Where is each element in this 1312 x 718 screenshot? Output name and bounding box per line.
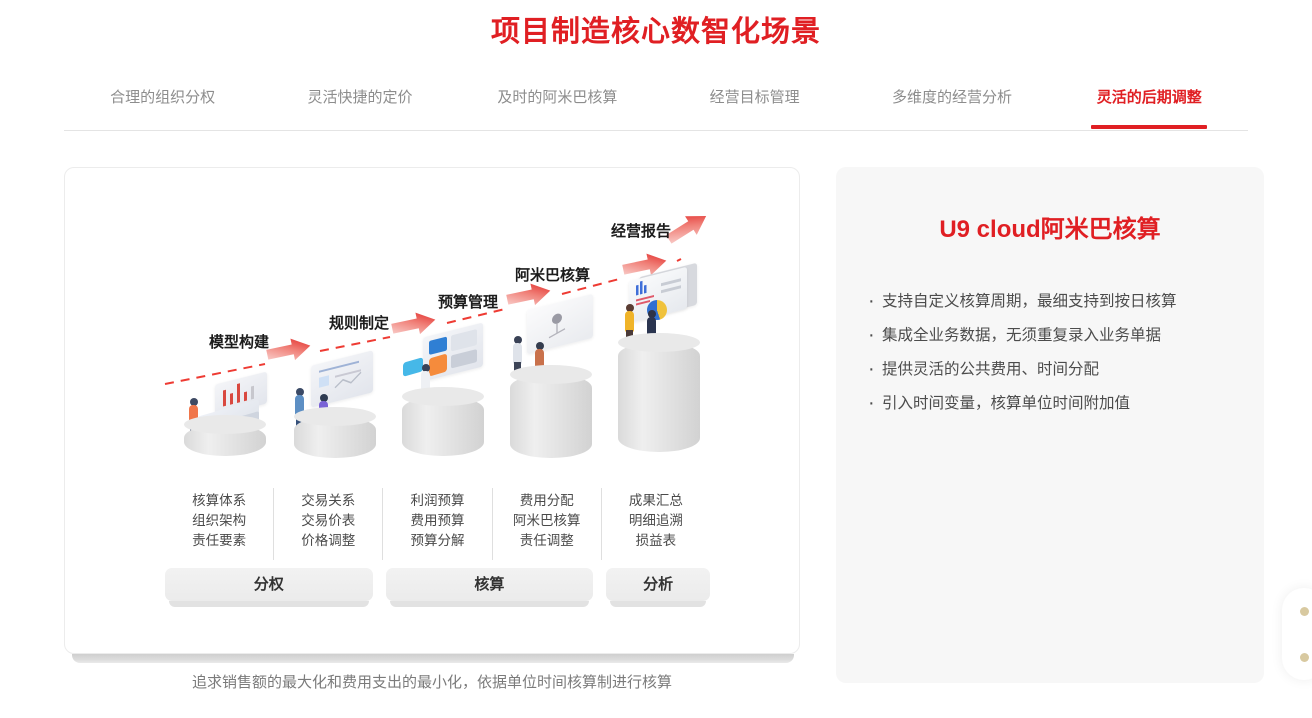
- pedestal-4: [510, 374, 592, 458]
- tab-flexible-pricing[interactable]: 灵活快捷的定价: [261, 76, 458, 129]
- pedestal-2: [294, 416, 376, 458]
- capability-columns: 核算体系 组织架构 责任要素 交易关系 交易价表 价格调整 利润预算 费用预算 …: [165, 488, 710, 638]
- diagram-caption: 追求销售额的最大化和费用支出的最小化，依据单位时间核算制进行核算: [64, 672, 800, 694]
- stage-label-budget-mgmt: 预算管理: [438, 291, 498, 312]
- column-2-text: 交易关系 交易价表 价格调整: [273, 488, 382, 560]
- contact-widget-icon: [1300, 607, 1309, 616]
- group-button-fenquan[interactable]: 分权: [165, 568, 373, 601]
- info-panel-bullets: 支持自定义核算周期，最细支持到按日核算 集成全业务数据，无须重复录入业务单据 提…: [866, 285, 1234, 421]
- diagram-card-shelf: [72, 654, 794, 663]
- pedestal-3: [402, 396, 484, 456]
- stage-label-amoeba-acct: 阿米巴核算: [515, 264, 590, 285]
- stage-label-business-report: 经营报告: [611, 220, 671, 241]
- bullet-item-3: 提供灵活的公共费用、时间分配: [866, 353, 1234, 387]
- tab-business-goal-management[interactable]: 经营目标管理: [656, 76, 853, 129]
- tab-flexible-later-adjustment[interactable]: 灵活的后期调整: [1051, 76, 1248, 129]
- bullet-item-2: 集成全业务数据，无须重复录入业务单据: [866, 319, 1234, 353]
- floating-contact-widget[interactable]: [1282, 588, 1312, 680]
- diagram-card: 模型构建 规则制定 预算管理 阿米巴核算 经营报告: [64, 167, 800, 654]
- stage-label-rule-setting: 规则制定: [329, 312, 389, 333]
- column-3-text: 利润预算 费用预算 预算分解: [382, 488, 491, 560]
- info-panel: U9 cloud阿米巴核算 支持自定义核算周期，最细支持到按日核算 集成全业务数…: [836, 167, 1264, 683]
- group-button-fenxi[interactable]: 分析: [606, 568, 710, 601]
- column-5-text: 成果汇总 明细追溯 损益表: [601, 488, 710, 560]
- pedestal-5: [618, 342, 700, 452]
- tab-timely-amoeba-accounting[interactable]: 及时的阿米巴核算: [459, 76, 656, 129]
- tab-bar: 合理的组织分权 灵活快捷的定价 及时的阿米巴核算 经营目标管理 多维度的经营分析…: [64, 76, 1248, 131]
- stage-illustration-area: 模型构建 规则制定 预算管理 阿米巴核算 经营报告: [65, 168, 800, 488]
- group-button-hesuan[interactable]: 核算: [386, 568, 594, 601]
- group-button-row: 分权 核算 分析: [165, 568, 710, 601]
- bullet-item-1: 支持自定义核算周期，最细支持到按日核算: [866, 285, 1234, 319]
- column-4-text: 费用分配 阿米巴核算 责任调整: [492, 488, 601, 560]
- bullet-item-4: 引入时间变量，核算单位时间附加值: [866, 387, 1234, 421]
- column-1-text: 核算体系 组织架构 责任要素: [165, 488, 273, 560]
- stage-label-model-build: 模型构建: [209, 331, 269, 352]
- info-panel-title: U9 cloud阿米巴核算: [866, 215, 1234, 245]
- tab-organization-authority[interactable]: 合理的组织分权: [64, 76, 261, 129]
- main-content: 模型构建 规则制定 预算管理 阿米巴核算 经营报告: [64, 167, 1264, 687]
- badge-icon: [403, 357, 423, 377]
- tab-multidimensional-analysis[interactable]: 多维度的经营分析: [853, 76, 1050, 129]
- pedestal-1: [184, 424, 266, 456]
- column-text-row: 核算体系 组织架构 责任要素 交易关系 交易价表 价格调整 利润预算 费用预算 …: [165, 488, 710, 560]
- contact-widget-icon-secondary: [1300, 653, 1309, 662]
- page-title: 项目制造核心数智化场景: [0, 0, 1312, 49]
